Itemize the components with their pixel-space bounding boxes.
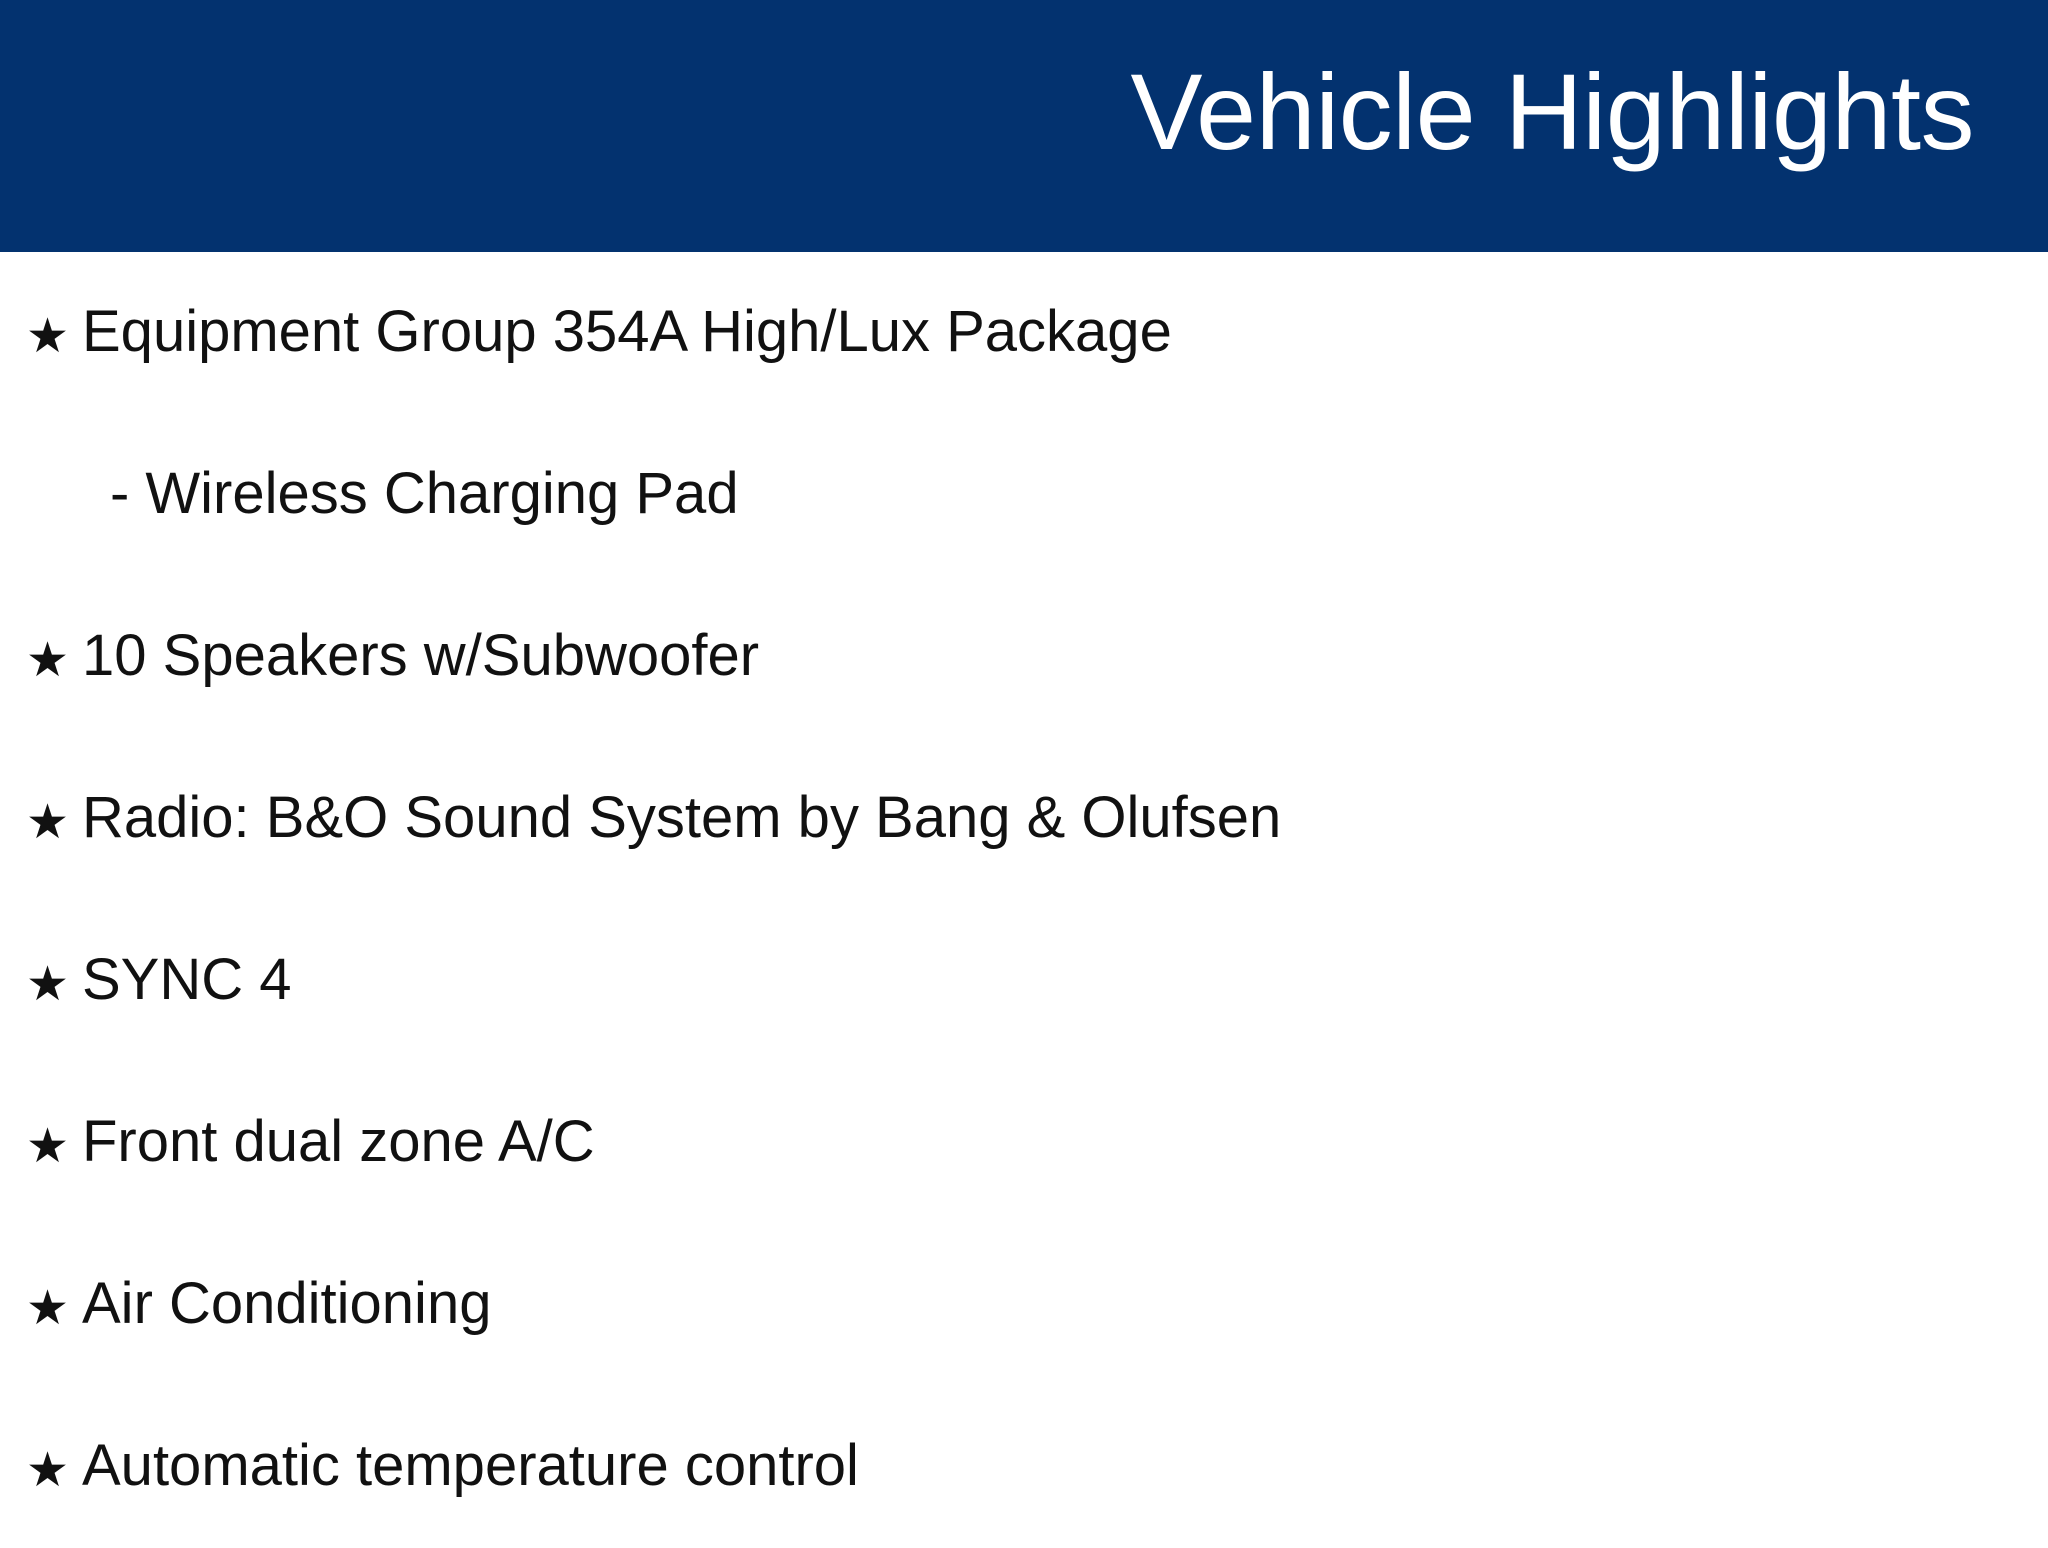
page-title: Vehicle Highlights: [1130, 57, 1974, 167]
highlight-label: Automatic temperature control: [82, 1386, 859, 1495]
highlight-label: Front dual zone A/C: [82, 1062, 595, 1171]
star-bullet-icon: ★: [26, 576, 82, 684]
highlight-label: Air Conditioning: [82, 1224, 491, 1333]
highlight-label: Equipment Group 354A High/Lux Package: [82, 252, 1172, 361]
list-item: ★ Equipment Group 354A High/Lux Package: [0, 252, 2048, 414]
vehicle-highlights-list: ★ Equipment Group 354A High/Lux Package …: [0, 252, 2048, 1548]
list-item: ★ Front dual zone A/C: [0, 1062, 2048, 1224]
vehicle-highlights-slide: Vehicle Highlights ★ Equipment Group 354…: [0, 0, 2048, 1536]
sub-bullet-spacer-icon: [26, 414, 82, 474]
star-bullet-icon: ★: [26, 900, 82, 1008]
star-bullet-icon: ★: [26, 738, 82, 846]
highlight-label: SYNC 4: [82, 900, 292, 1009]
highlight-label: Radio: B&O Sound System by Bang & Olufse…: [82, 738, 1281, 847]
list-item: ★ SYNC 4: [0, 900, 2048, 1062]
star-bullet-icon: ★: [26, 1386, 82, 1494]
slide-header-band: Vehicle Highlights: [0, 0, 2048, 252]
list-item: ★ 10 Speakers w/Subwoofer: [0, 576, 2048, 738]
list-item-sub: - Wireless Charging Pad: [0, 414, 2048, 576]
highlight-sub-label: - Wireless Charging Pad: [82, 414, 739, 523]
star-bullet-icon: ★: [26, 1062, 82, 1170]
highlight-label: 10 Speakers w/Subwoofer: [82, 576, 759, 685]
list-item: ★ Air Conditioning: [0, 1224, 2048, 1386]
list-item: ★ Automatic temperature control: [0, 1386, 2048, 1548]
star-bullet-icon: ★: [26, 1224, 82, 1332]
list-item: ★ Radio: B&O Sound System by Bang & Oluf…: [0, 738, 2048, 900]
star-bullet-icon: ★: [26, 252, 82, 360]
